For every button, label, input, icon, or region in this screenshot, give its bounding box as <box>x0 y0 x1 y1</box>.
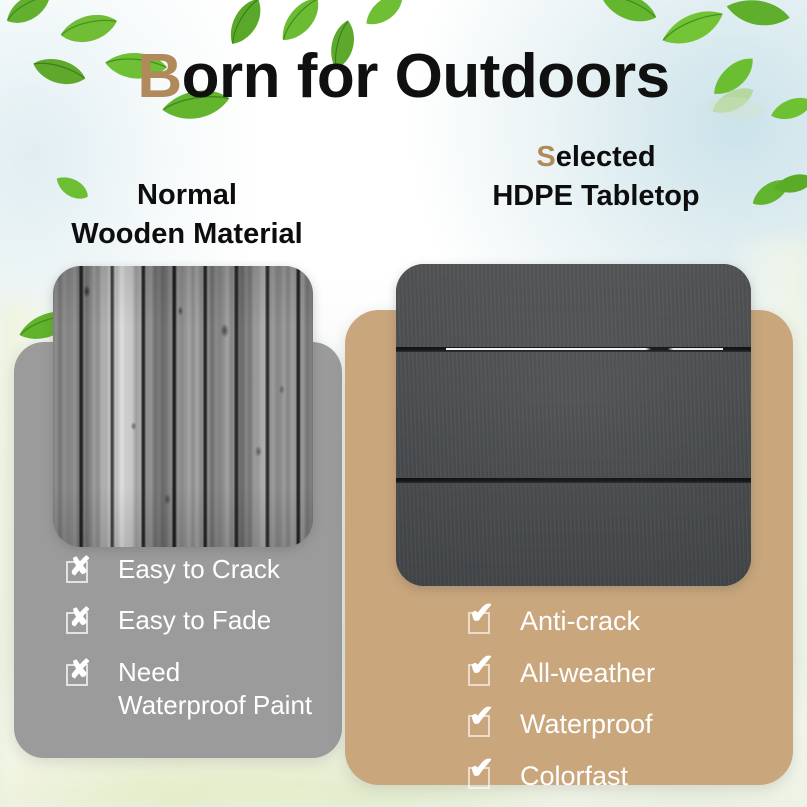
right-heading-line-2: HDPE Tabletop <box>426 177 766 216</box>
left-heading-line-2: Wooden Material <box>42 215 332 254</box>
left-column-heading: Normal Wooden Material <box>42 176 332 253</box>
list-item: ✔ Waterproof <box>468 707 655 742</box>
left-heading-line-1: Normal <box>42 176 332 215</box>
list-item: ✔ All-weather <box>468 656 655 691</box>
wooden-material-photo <box>53 266 313 547</box>
x-mark-icon: ✘ <box>66 659 96 689</box>
title-initial-cap: B <box>137 42 181 111</box>
left-feature-list: ✘ Easy to Crack ✘ Easy to Fade ✘ Need Wa… <box>66 553 312 740</box>
right-column-heading: Selected HDPE Tabletop <box>426 138 766 215</box>
title-rest: orn for Outdoors <box>182 42 670 111</box>
right-feature-label: Anti-crack <box>520 604 640 639</box>
x-mark-icon: ✘ <box>66 556 96 586</box>
page-title: Born for Outdoors <box>0 44 807 109</box>
x-mark-icon: ✘ <box>66 607 96 637</box>
check-mark-icon: ✔ <box>468 659 498 689</box>
hdpe-tabletop-photo <box>396 264 751 586</box>
promo-banner: Born for Outdoors Normal Wooden Material… <box>0 0 807 807</box>
list-item: ✔ Anti-crack <box>468 604 655 639</box>
check-mark-icon: ✔ <box>468 607 498 637</box>
wood-shading <box>53 266 313 547</box>
left-feature-label: Need Waterproof Paint <box>118 656 312 723</box>
list-item: ✘ Need Waterproof Paint <box>66 656 312 723</box>
right-feature-list: ✔ Anti-crack ✔ All-weather ✔ Waterproof … <box>468 604 655 807</box>
hdpe-vignette <box>396 264 751 586</box>
right-feature-label: Waterproof <box>520 707 653 742</box>
right-heading-line-1: Selected <box>426 138 766 177</box>
list-item: ✘ Easy to Crack <box>66 553 312 586</box>
check-mark-icon: ✔ <box>468 762 498 792</box>
right-heading-initial-cap: S <box>536 141 555 173</box>
right-heading-line-1-rest: elected <box>556 141 656 173</box>
right-feature-label: Colorfast <box>520 759 628 794</box>
check-mark-icon: ✔ <box>468 710 498 740</box>
left-feature-label: Easy to Crack <box>118 553 280 586</box>
left-feature-label: Easy to Fade <box>118 604 271 637</box>
right-feature-label: All-weather <box>520 656 655 691</box>
list-item: ✘ Easy to Fade <box>66 604 312 637</box>
list-item: ✔ Colorfast <box>468 759 655 794</box>
